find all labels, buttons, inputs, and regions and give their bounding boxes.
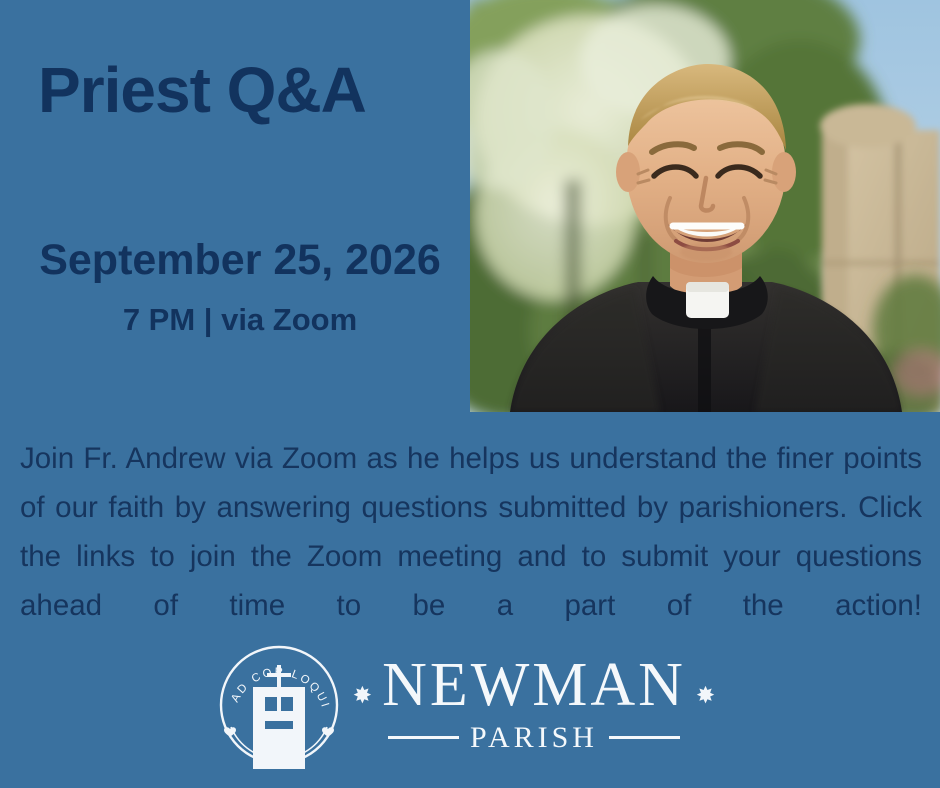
wordmark-parish-row: PARISH bbox=[388, 723, 680, 753]
newman-wordmark: NEWMAN PARISH bbox=[382, 654, 686, 753]
wordmark-newman: NEWMAN bbox=[382, 654, 686, 716]
cor-ad-cor-loquitur-seal: COR AD COR LOQUITUR bbox=[215, 641, 343, 769]
page-title: Priest Q&A bbox=[38, 58, 366, 122]
heart-dot-right-icon bbox=[322, 727, 334, 737]
rule-left bbox=[388, 736, 459, 739]
heart-dot-left-icon bbox=[224, 727, 236, 737]
priest-portrait-photo bbox=[470, 0, 940, 412]
rule-right bbox=[609, 736, 680, 739]
portrait-illustration bbox=[470, 0, 940, 412]
star-right-icon: ✸ bbox=[696, 684, 715, 707]
event-date: September 25, 2026 bbox=[20, 238, 460, 283]
parish-logo-lockup: COR AD COR LOQUITUR bbox=[0, 640, 940, 770]
event-flyer: Priest Q&A September 25, 2026 7 PM | via… bbox=[0, 0, 940, 788]
event-time-platform: 7 PM | via Zoom bbox=[20, 304, 460, 337]
parish-seal-badge: COR AD COR LOQUITUR bbox=[215, 641, 343, 769]
star-left-icon: ✸ bbox=[353, 684, 372, 707]
wordmark-parish: PARISH bbox=[459, 723, 609, 753]
